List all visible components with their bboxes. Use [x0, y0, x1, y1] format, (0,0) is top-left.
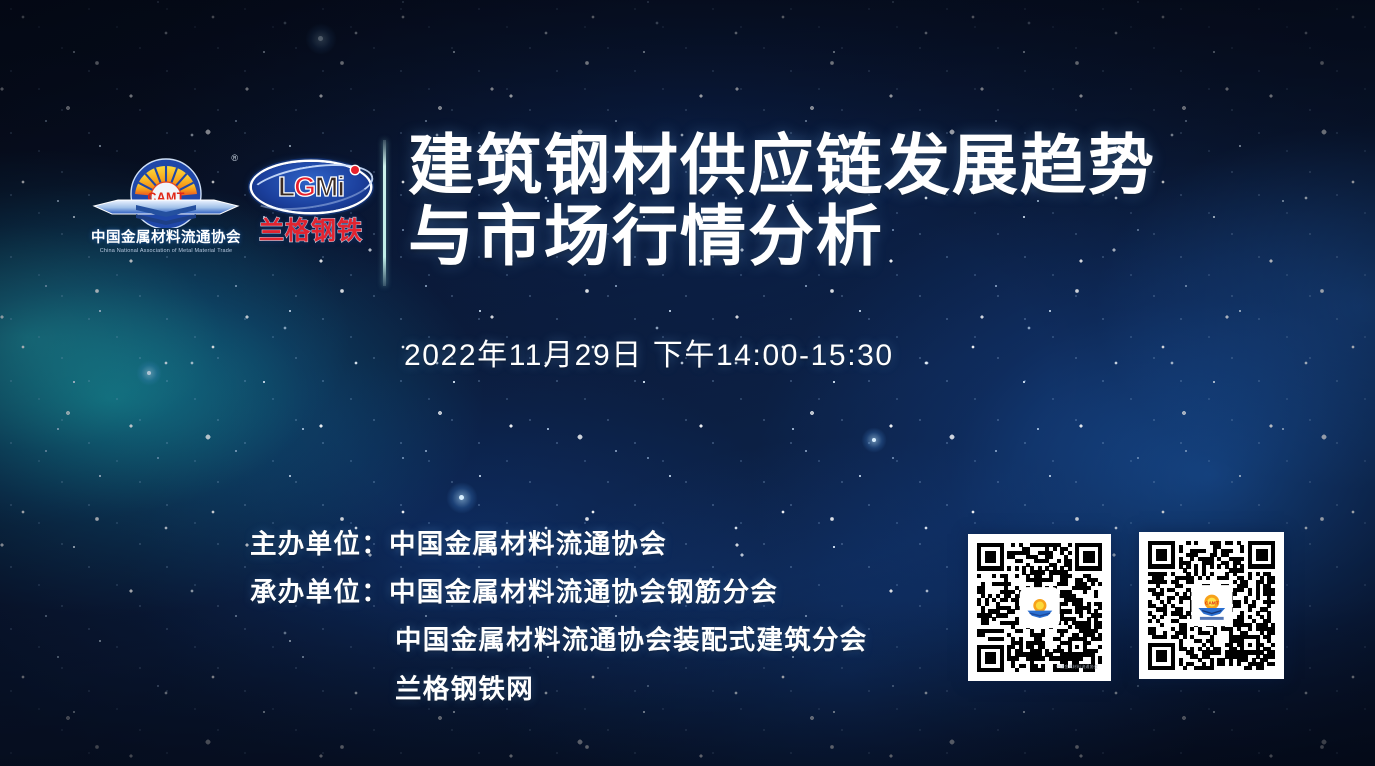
- lgmi-wordmark: LGMi: [278, 173, 344, 201]
- lgmi-letter-i: i: [337, 173, 344, 201]
- qr-code-secondary-wechat[interactable]: CAMT: [1139, 532, 1284, 679]
- organizer-block: 主办单位：中国金属材料流通协会 承办单位：中国金属材料流通协会钢筋分会 中国金属…: [250, 520, 868, 713]
- lgmi-chinese-name: 兰格钢铁: [250, 218, 372, 246]
- lgmi-letter-g: G: [294, 173, 315, 201]
- organizer-line: 主办单位：中国金属材料流通协会: [250, 520, 868, 568]
- camt-chinese-name: 中国金属材料流通协会: [86, 226, 246, 247]
- qr-code-image: CAMT: [1148, 541, 1275, 670]
- registered-mark-icon: ®: [231, 154, 238, 163]
- qr-center-logo: CAMT: [1192, 586, 1230, 625]
- camt-logo: CAMT ® 中国金属材料流通协会 China National Associa…: [86, 150, 246, 260]
- lgmi-logo: LGMi 兰格钢铁: [250, 162, 372, 262]
- title-line-1: 建筑钢材供应链发展趋势: [408, 130, 1268, 201]
- organizer-line: 中国金属材料流通协会装配式建筑分会: [250, 616, 868, 664]
- camt-emblem-icon: CAMT ®: [92, 150, 240, 228]
- event-datetime: 2022年11月29日 下午14:00-15:30: [404, 330, 894, 374]
- organizer-line: 承办单位：中国金属材料流通协会钢筋分会: [250, 568, 868, 616]
- event-poster: CAMT ® 中国金属材料流通协会 China National Associa…: [0, 0, 1375, 766]
- header-divider: [383, 140, 386, 286]
- qr-watermark: 中国金属材料流通协会: [1056, 664, 1098, 670]
- camt-english-name: China National Association of Metal Mate…: [88, 248, 245, 254]
- qr-center-logo: [1021, 588, 1059, 627]
- lgmi-dot-icon: [351, 166, 359, 174]
- lgmi-letter-l: L: [278, 173, 294, 201]
- lgmi-wordmark-badge: LGMi: [252, 162, 370, 212]
- svg-text:CAMT: CAMT: [1205, 600, 1219, 606]
- qr-code-camt-wechat[interactable]: 中国金属材料流通协会: [968, 534, 1111, 681]
- poster-header: CAMT ® 中国金属材料流通协会 China National Associa…: [0, 0, 1375, 300]
- page-title: 建筑钢材供应链发展趋势 与市场行情分析: [408, 130, 1268, 273]
- organizer-line: 兰格钢铁网: [250, 665, 868, 713]
- qr-code-image: 中国金属材料流通协会: [977, 543, 1102, 672]
- lgmi-letter-m: M: [315, 173, 337, 201]
- title-line-2: 与市场行情分析: [408, 201, 1268, 272]
